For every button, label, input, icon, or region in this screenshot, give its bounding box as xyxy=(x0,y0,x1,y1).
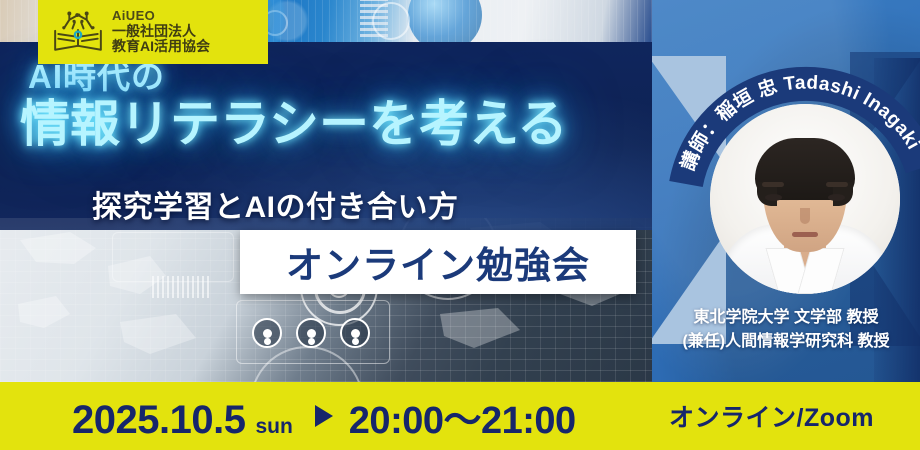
logo-brand: AiUEO xyxy=(112,9,210,24)
logo-line-2: 一般社団法人 xyxy=(112,24,210,40)
poster-headline: 情報リテラシーを考える xyxy=(20,98,568,151)
book-circuit-icon xyxy=(52,10,104,54)
ribbon-text-path: 講師：稲垣 忠 Tadashi Inagaki xyxy=(676,72,920,173)
speaker-name-text: 講師：稲垣 忠 Tadashi Inagaki xyxy=(676,72,920,173)
event-venue: オンライン/Zoom xyxy=(669,398,874,434)
event-date: 2025.10.5 xyxy=(72,398,245,443)
play-triangle-icon xyxy=(315,405,333,427)
event-details-bar: 2025.10.5 sun 20:00〜21:00 オンライン/Zoom xyxy=(0,382,920,450)
organization-logo: AiUEO 一般社団法人 教育AI活用協会 xyxy=(38,0,268,64)
bar-chart-graphic xyxy=(152,276,212,298)
event-poster: AI時代の 情報リテラシーを考える 探究学習とAIの付き合い方 オンライン勉強会 xyxy=(0,0,920,450)
event-time: 20:00〜21:00 xyxy=(349,389,576,444)
affiliation-line-2: (兼任)人間情報学研究科 教授 xyxy=(652,330,920,354)
person-avatar-icon xyxy=(252,318,282,348)
event-day-of-week: sun xyxy=(255,415,292,439)
speaker-name-ribbon: 講師：稲垣 忠 Tadashi Inagaki xyxy=(680,66,920,196)
speaker-nose xyxy=(800,208,810,224)
affiliation-line-1: 東北学院大学 文学部 教授 xyxy=(652,306,920,330)
logo-text-group: AiUEO 一般社団法人 教育AI活用協会 xyxy=(112,9,210,55)
event-type-label: オンライン勉強会 xyxy=(286,235,590,289)
hud-ring-icon xyxy=(372,2,410,40)
poster-subheadline: 探究学習とAIの付き合い方 xyxy=(92,182,459,226)
globe-graphic-secondary xyxy=(408,0,482,42)
person-avatar-icon xyxy=(340,318,370,348)
speaker-affiliation: 東北学院大学 文学部 教授 (兼任)人間情報学研究科 教授 xyxy=(652,306,920,354)
hud-bars-graphic xyxy=(360,0,388,38)
hud-panel-frame-secondary xyxy=(112,232,234,282)
datetime-group: 2025.10.5 sun 20:00〜21:00 xyxy=(72,389,576,444)
logo-line-3: 教育AI活用協会 xyxy=(112,39,210,55)
person-avatar-icon xyxy=(296,318,326,348)
speaker-mouth xyxy=(792,232,818,237)
event-type-box: オンライン勉強会 xyxy=(240,230,636,294)
